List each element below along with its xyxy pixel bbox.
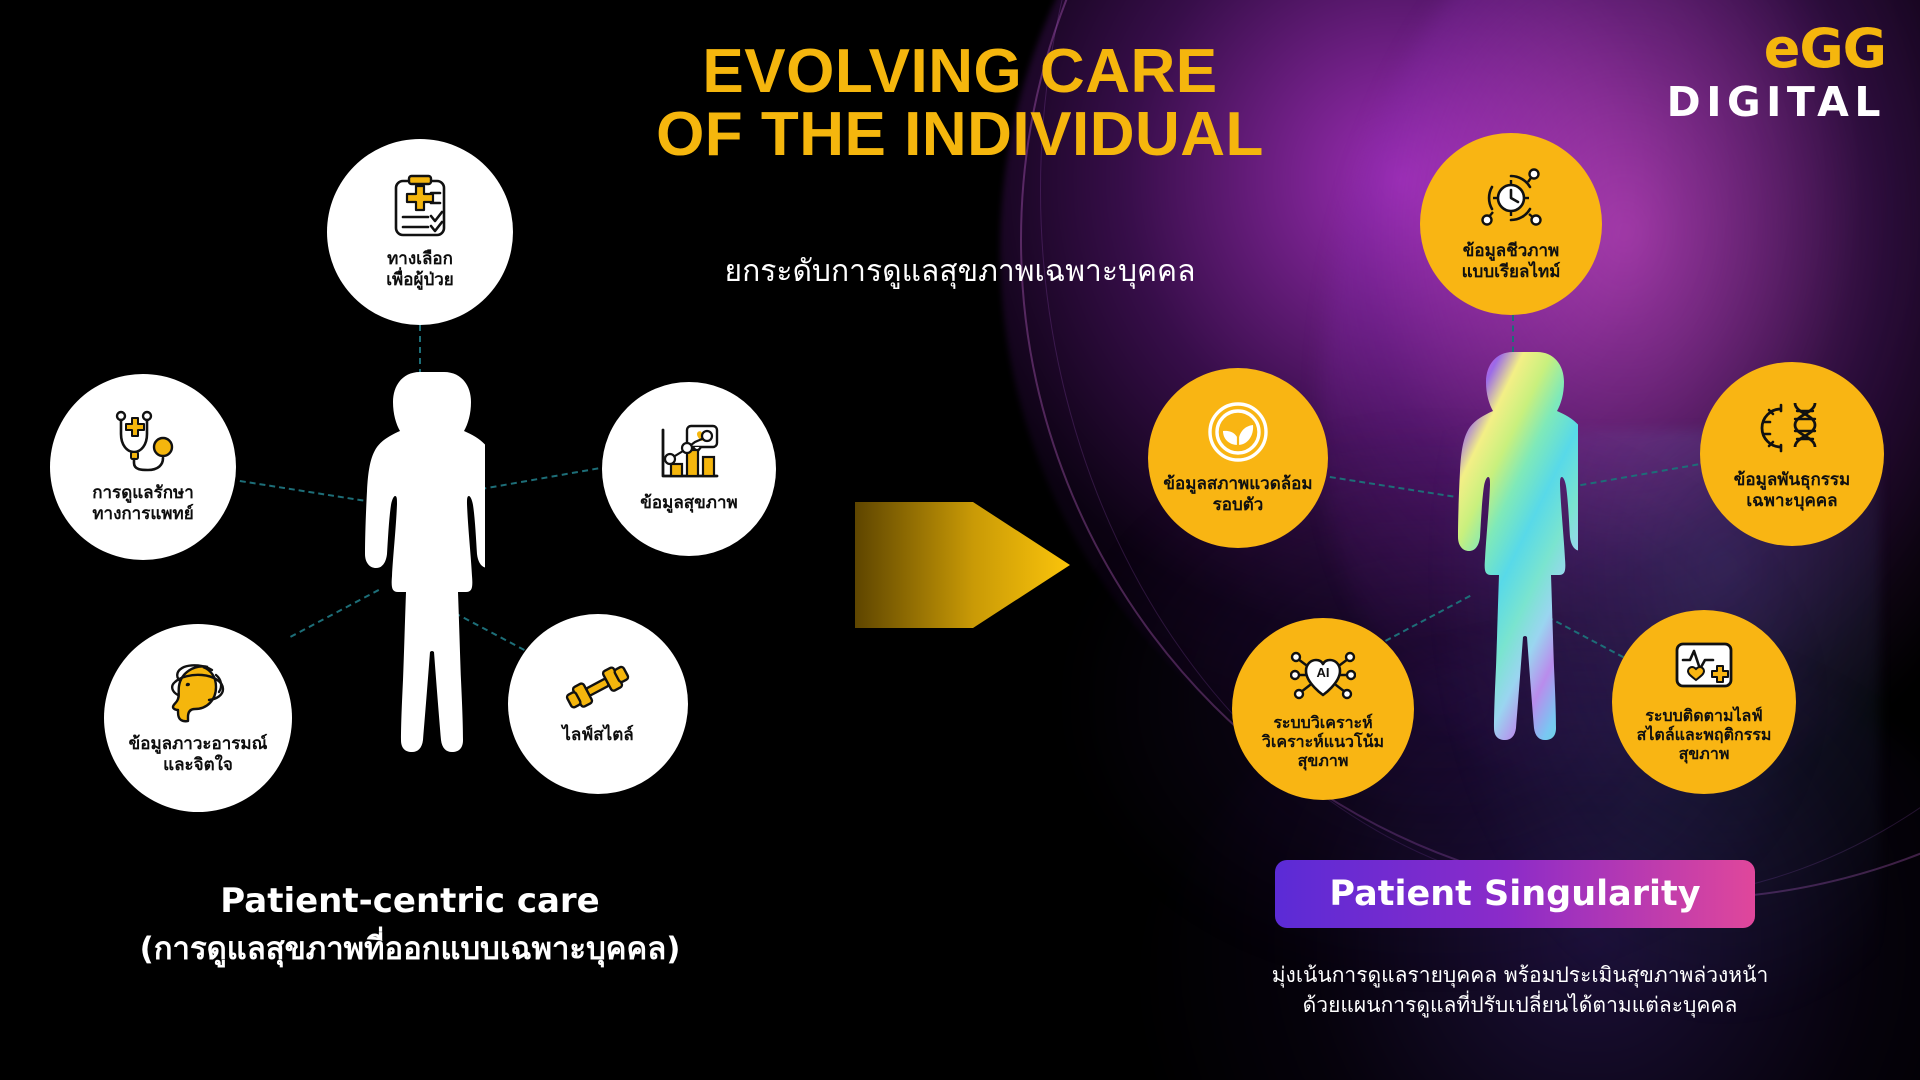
- bubble-left-top-label: ทางเลือก เพื่อผู้ป่วย: [376, 249, 464, 289]
- bubble-right-southeast[interactable]: ระบบติดตามไลฟ์ สไตล์และพฤติกรรม สุขภาพ: [1612, 610, 1796, 794]
- connector-left-east: [470, 467, 598, 492]
- ai-heart-analytics-icon: AI: [1290, 647, 1356, 707]
- patient-silhouette-right: [1448, 350, 1578, 850]
- svg-text:AI: AI: [1317, 665, 1330, 680]
- dumbbell-icon: [561, 662, 635, 718]
- label-line-2: เพื่อผู้ป่วย: [386, 270, 454, 290]
- bubble-right-top-label: ข้อมูลชีวภาพ แบบเรียลไทม์: [1452, 241, 1571, 281]
- left-caption: Patient-centric care (การดูแลสุขภาพที่ออ…: [30, 880, 790, 969]
- bubble-right-east-label: ข้อมูลพันธุกรรม เฉพาะบุคคล: [1724, 470, 1860, 510]
- label-line-3: สุขภาพ: [1637, 745, 1772, 764]
- label-line-2: และจิตใจ: [129, 755, 268, 775]
- bubble-left-east[interactable]: ข้อมูลสุขภาพ: [602, 382, 776, 556]
- status-badge-patient-singularity: Patient Singularity: [1275, 860, 1755, 928]
- bubble-right-southwest-label: ระบบวิเคราะห์ วิเคราะห์แนวโน้ม สุขภาพ: [1252, 714, 1394, 771]
- transition-arrow: [855, 460, 1080, 670]
- stethoscope-icon: [107, 410, 179, 476]
- title-line-2: OF THE INDIVIDUAL: [0, 103, 1920, 166]
- label-line-1: ระบบวิเคราะห์: [1262, 714, 1384, 733]
- dna-gear-icon: [1759, 397, 1825, 463]
- monitor-vitals-icon: [1673, 640, 1735, 700]
- label-line-2: วิเคราะห์แนวโน้ม: [1262, 733, 1384, 752]
- patient-silhouette-left: [355, 370, 485, 850]
- page-title: EVOLVING CARE OF THE INDIVIDUAL: [0, 40, 1920, 166]
- label-line-1: การดูแลรักษา: [92, 483, 194, 503]
- bubble-left-east-label: ข้อมูลสุขภาพ: [630, 493, 747, 513]
- bubble-left-west[interactable]: การดูแลรักษา ทางการแพทย์: [50, 374, 236, 560]
- connector-left-top: [419, 325, 421, 375]
- label-line-1: ข้อมูลภาวะอารมณ์: [129, 734, 268, 754]
- label-line-2: เฉพาะบุคคล: [1734, 491, 1850, 511]
- label-line-1: ไลฟ์สไตล์: [562, 725, 633, 745]
- bubble-right-southeast-label: ระบบติดตามไลฟ์ สไตล์และพฤติกรรม สุขภาพ: [1627, 707, 1782, 764]
- label-line-1: ทางเลือก: [386, 249, 454, 269]
- bubble-left-southwest[interactable]: ข้อมูลภาวะอารมณ์ และจิตใจ: [104, 624, 292, 812]
- bubble-left-west-label: การดูแลรักษา ทางการแพทย์: [82, 483, 204, 523]
- mental-head-icon: [164, 661, 232, 727]
- realtime-clock-network-icon: [1479, 166, 1543, 234]
- leaf-environment-icon: [1207, 401, 1269, 467]
- bubble-right-west-label: ข้อมูลสภาพแวดล้อม รอบตัว: [1153, 474, 1322, 514]
- page-subtitle: ยกระดับการดูแลสุขภาพเฉพาะบุคคล: [0, 248, 1920, 295]
- bubble-right-top[interactable]: ข้อมูลชีวภาพ แบบเรียลไทม์: [1420, 133, 1602, 315]
- bubble-right-east[interactable]: ข้อมูลพันธุกรรม เฉพาะบุคคล: [1700, 362, 1884, 546]
- label-line-2: รอบตัว: [1163, 495, 1312, 515]
- bubble-right-southwest[interactable]: AI ระบบวิเคราะห์ วิเคราะห์แนวโน้ม สุขภาพ: [1232, 618, 1414, 800]
- bubble-left-southeast-label: ไลฟ์สไตล์: [552, 725, 643, 745]
- bubble-left-southwest-label: ข้อมูลภาวะอารมณ์ และจิตใจ: [119, 734, 278, 774]
- right-caption: มุ่งเน้นการดูแลรายบุคคล พร้อมประเมินสุขภ…: [1180, 960, 1860, 1021]
- label-line-2: แบบเรียลไทม์: [1462, 262, 1561, 282]
- left-caption-line-1: Patient-centric care: [30, 880, 790, 924]
- label-line-2: สไตล์และพฤติกรรม: [1637, 726, 1772, 745]
- left-caption-line-2: (การดูแลสุขภาพที่ออกแบบเฉพาะบุคคล): [30, 930, 790, 970]
- label-line-3: สุขภาพ: [1262, 752, 1384, 771]
- label-line-1: ระบบติดตามไลฟ์: [1637, 707, 1772, 726]
- label-line-1: ข้อมูลสุขภาพ: [640, 493, 737, 513]
- connector-left-west: [240, 480, 364, 502]
- label-line-2: ทางการแพทย์: [92, 504, 194, 524]
- health-chart-icon: [657, 424, 721, 486]
- bubble-right-west[interactable]: ข้อมูลสภาพแวดล้อม รอบตัว: [1148, 368, 1328, 548]
- right-caption-line-2: ด้วยแผนการดูแลที่ปรับเปลี่ยนได้ตามแต่ละบ…: [1180, 990, 1860, 1020]
- bubble-left-top[interactable]: ทางเลือก เพื่อผู้ป่วย: [327, 139, 513, 325]
- label-line-1: ข้อมูลชีวภาพ: [1462, 241, 1561, 261]
- label-line-1: ข้อมูลพันธุกรรม: [1734, 470, 1850, 490]
- label-line-1: ข้อมูลสภาพแวดล้อม: [1163, 474, 1312, 494]
- bubble-left-southeast[interactable]: ไลฟ์สไตล์: [508, 614, 688, 794]
- infographic-canvas: eGG DIGITAL EVOLVING CARE OF THE INDIVID…: [0, 0, 1920, 1080]
- right-caption-line-1: มุ่งเน้นการดูแลรายบุคคล พร้อมประเมินสุขภ…: [1180, 960, 1860, 990]
- clipboard-checklist-icon: [390, 174, 450, 242]
- title-line-1: EVOLVING CARE: [0, 40, 1920, 103]
